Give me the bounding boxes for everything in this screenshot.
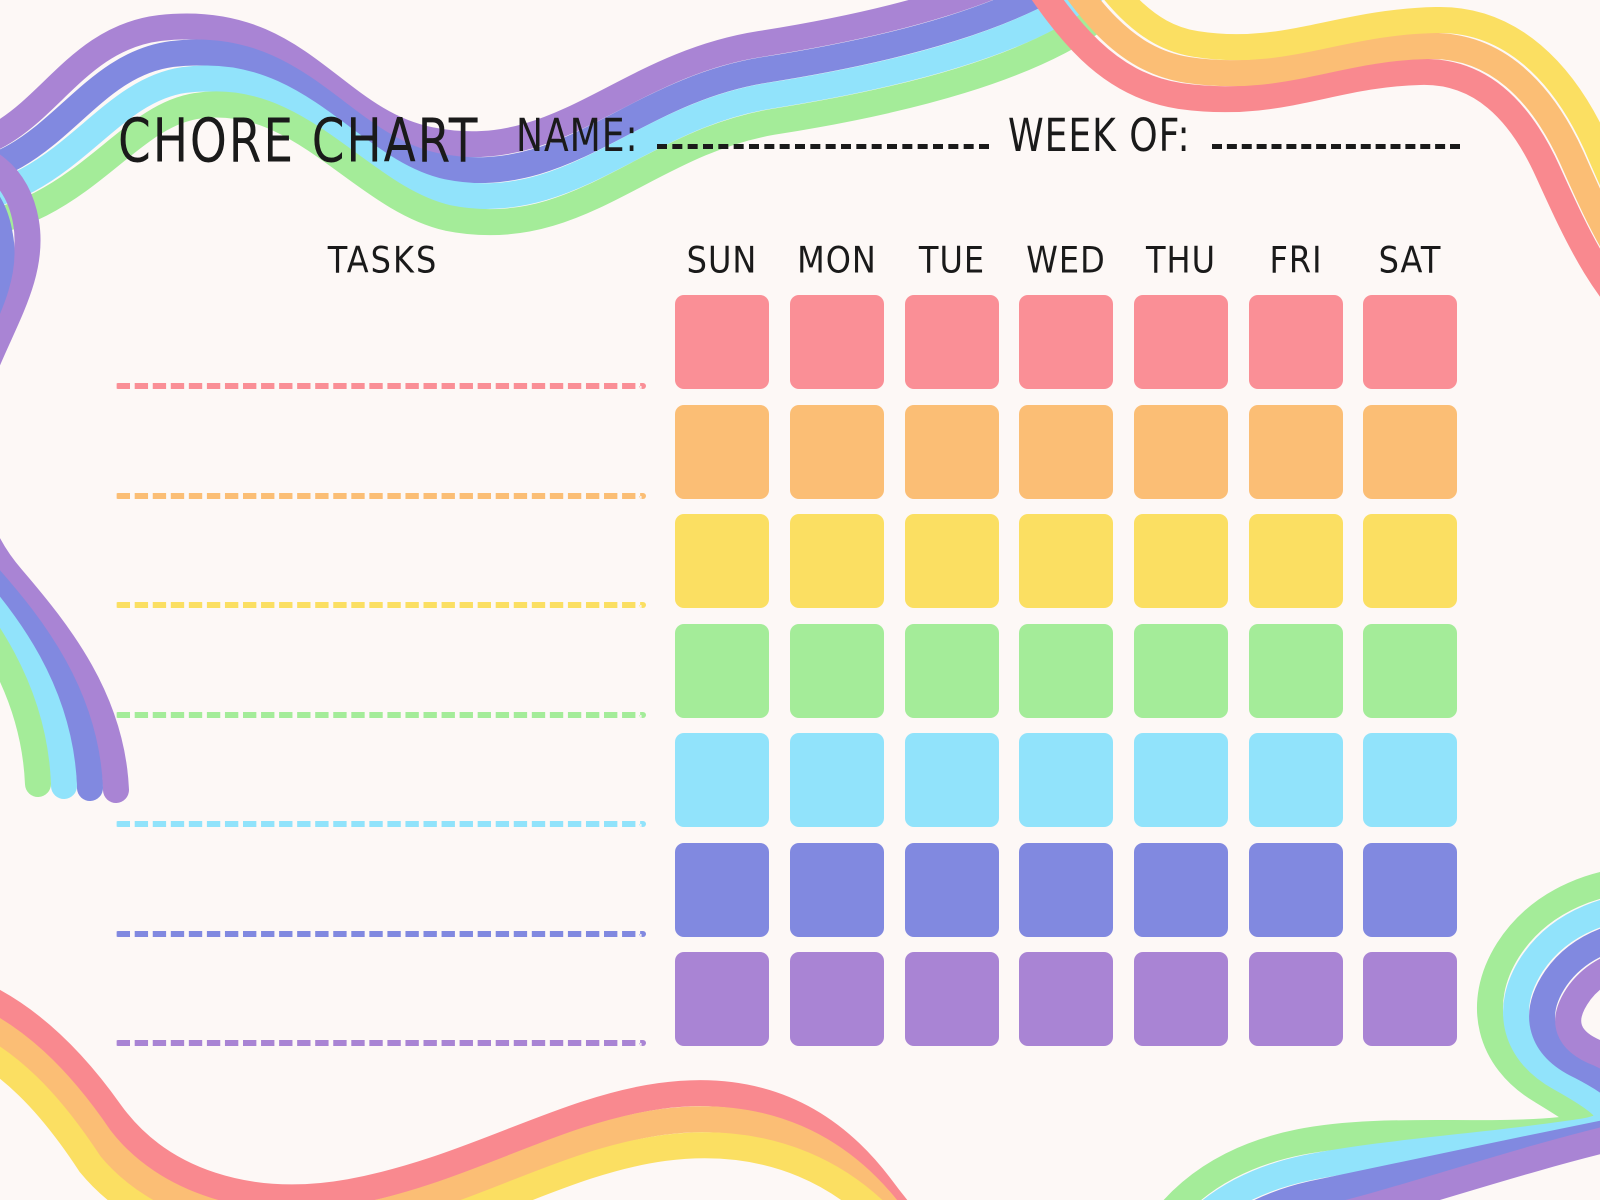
task-writeline-row-2[interactable] bbox=[115, 493, 646, 499]
chore-cell-row-7-wed[interactable] bbox=[1019, 952, 1113, 1046]
task-writeline-row-1[interactable] bbox=[115, 383, 646, 389]
chore-cell-row-2-mon[interactable] bbox=[790, 405, 884, 499]
chore-cell-row-5-sun[interactable] bbox=[675, 733, 769, 827]
chore-grid bbox=[0, 0, 1600, 1200]
chore-cell-row-6-wed[interactable] bbox=[1019, 843, 1113, 937]
chore-cell-row-2-sat[interactable] bbox=[1363, 405, 1457, 499]
chore-cell-row-6-tue[interactable] bbox=[905, 843, 999, 937]
chore-cell-row-5-thu[interactable] bbox=[1134, 733, 1228, 827]
chore-cell-row-4-tue[interactable] bbox=[905, 624, 999, 718]
chore-cell-row-1-tue[interactable] bbox=[905, 295, 999, 389]
chore-cell-row-3-mon[interactable] bbox=[790, 514, 884, 608]
chore-cell-row-3-tue[interactable] bbox=[905, 514, 999, 608]
chore-cell-row-1-thu[interactable] bbox=[1134, 295, 1228, 389]
chore-cell-row-5-mon[interactable] bbox=[790, 733, 884, 827]
chore-cell-row-3-thu[interactable] bbox=[1134, 514, 1228, 608]
chore-cell-row-5-fri[interactable] bbox=[1249, 733, 1343, 827]
chore-cell-row-7-fri[interactable] bbox=[1249, 952, 1343, 1046]
chore-cell-row-7-sat[interactable] bbox=[1363, 952, 1457, 1046]
chore-cell-row-4-fri[interactable] bbox=[1249, 624, 1343, 718]
chore-cell-row-1-sat[interactable] bbox=[1363, 295, 1457, 389]
chore-cell-row-7-thu[interactable] bbox=[1134, 952, 1228, 1046]
chore-cell-row-3-sun[interactable] bbox=[675, 514, 769, 608]
chore-cell-row-1-fri[interactable] bbox=[1249, 295, 1343, 389]
chore-cell-row-7-tue[interactable] bbox=[905, 952, 999, 1046]
chore-cell-row-6-fri[interactable] bbox=[1249, 843, 1343, 937]
chore-cell-row-4-sat[interactable] bbox=[1363, 624, 1457, 718]
chore-cell-row-1-sun[interactable] bbox=[675, 295, 769, 389]
chore-cell-row-4-sun[interactable] bbox=[675, 624, 769, 718]
chore-cell-row-7-sun[interactable] bbox=[675, 952, 769, 1046]
chore-cell-row-2-wed[interactable] bbox=[1019, 405, 1113, 499]
chore-cell-row-2-tue[interactable] bbox=[905, 405, 999, 499]
task-writeline-row-6[interactable] bbox=[115, 931, 646, 937]
chore-cell-row-1-wed[interactable] bbox=[1019, 295, 1113, 389]
chore-cell-row-6-thu[interactable] bbox=[1134, 843, 1228, 937]
chore-cell-row-3-sat[interactable] bbox=[1363, 514, 1457, 608]
chore-chart-page: CHORE CHART NAME: WEEK OF: TASKS SUN MON… bbox=[0, 0, 1600, 1200]
chore-cell-row-2-thu[interactable] bbox=[1134, 405, 1228, 499]
task-writeline-row-4[interactable] bbox=[115, 712, 646, 718]
chore-cell-row-4-thu[interactable] bbox=[1134, 624, 1228, 718]
chore-cell-row-5-sat[interactable] bbox=[1363, 733, 1457, 827]
task-writeline-row-7[interactable] bbox=[115, 1040, 646, 1046]
chore-cell-row-3-wed[interactable] bbox=[1019, 514, 1113, 608]
chore-cell-row-1-mon[interactable] bbox=[790, 295, 884, 389]
chore-cell-row-4-mon[interactable] bbox=[790, 624, 884, 718]
task-writeline-row-3[interactable] bbox=[115, 602, 646, 608]
chore-cell-row-6-sun[interactable] bbox=[675, 843, 769, 937]
chore-cell-row-5-tue[interactable] bbox=[905, 733, 999, 827]
chore-cell-row-6-mon[interactable] bbox=[790, 843, 884, 937]
chore-cell-row-6-sat[interactable] bbox=[1363, 843, 1457, 937]
chore-cell-row-4-wed[interactable] bbox=[1019, 624, 1113, 718]
chore-cell-row-5-wed[interactable] bbox=[1019, 733, 1113, 827]
chore-cell-row-2-sun[interactable] bbox=[675, 405, 769, 499]
chore-cell-row-2-fri[interactable] bbox=[1249, 405, 1343, 499]
task-writeline-row-5[interactable] bbox=[115, 821, 646, 827]
chore-cell-row-7-mon[interactable] bbox=[790, 952, 884, 1046]
chore-cell-row-3-fri[interactable] bbox=[1249, 514, 1343, 608]
